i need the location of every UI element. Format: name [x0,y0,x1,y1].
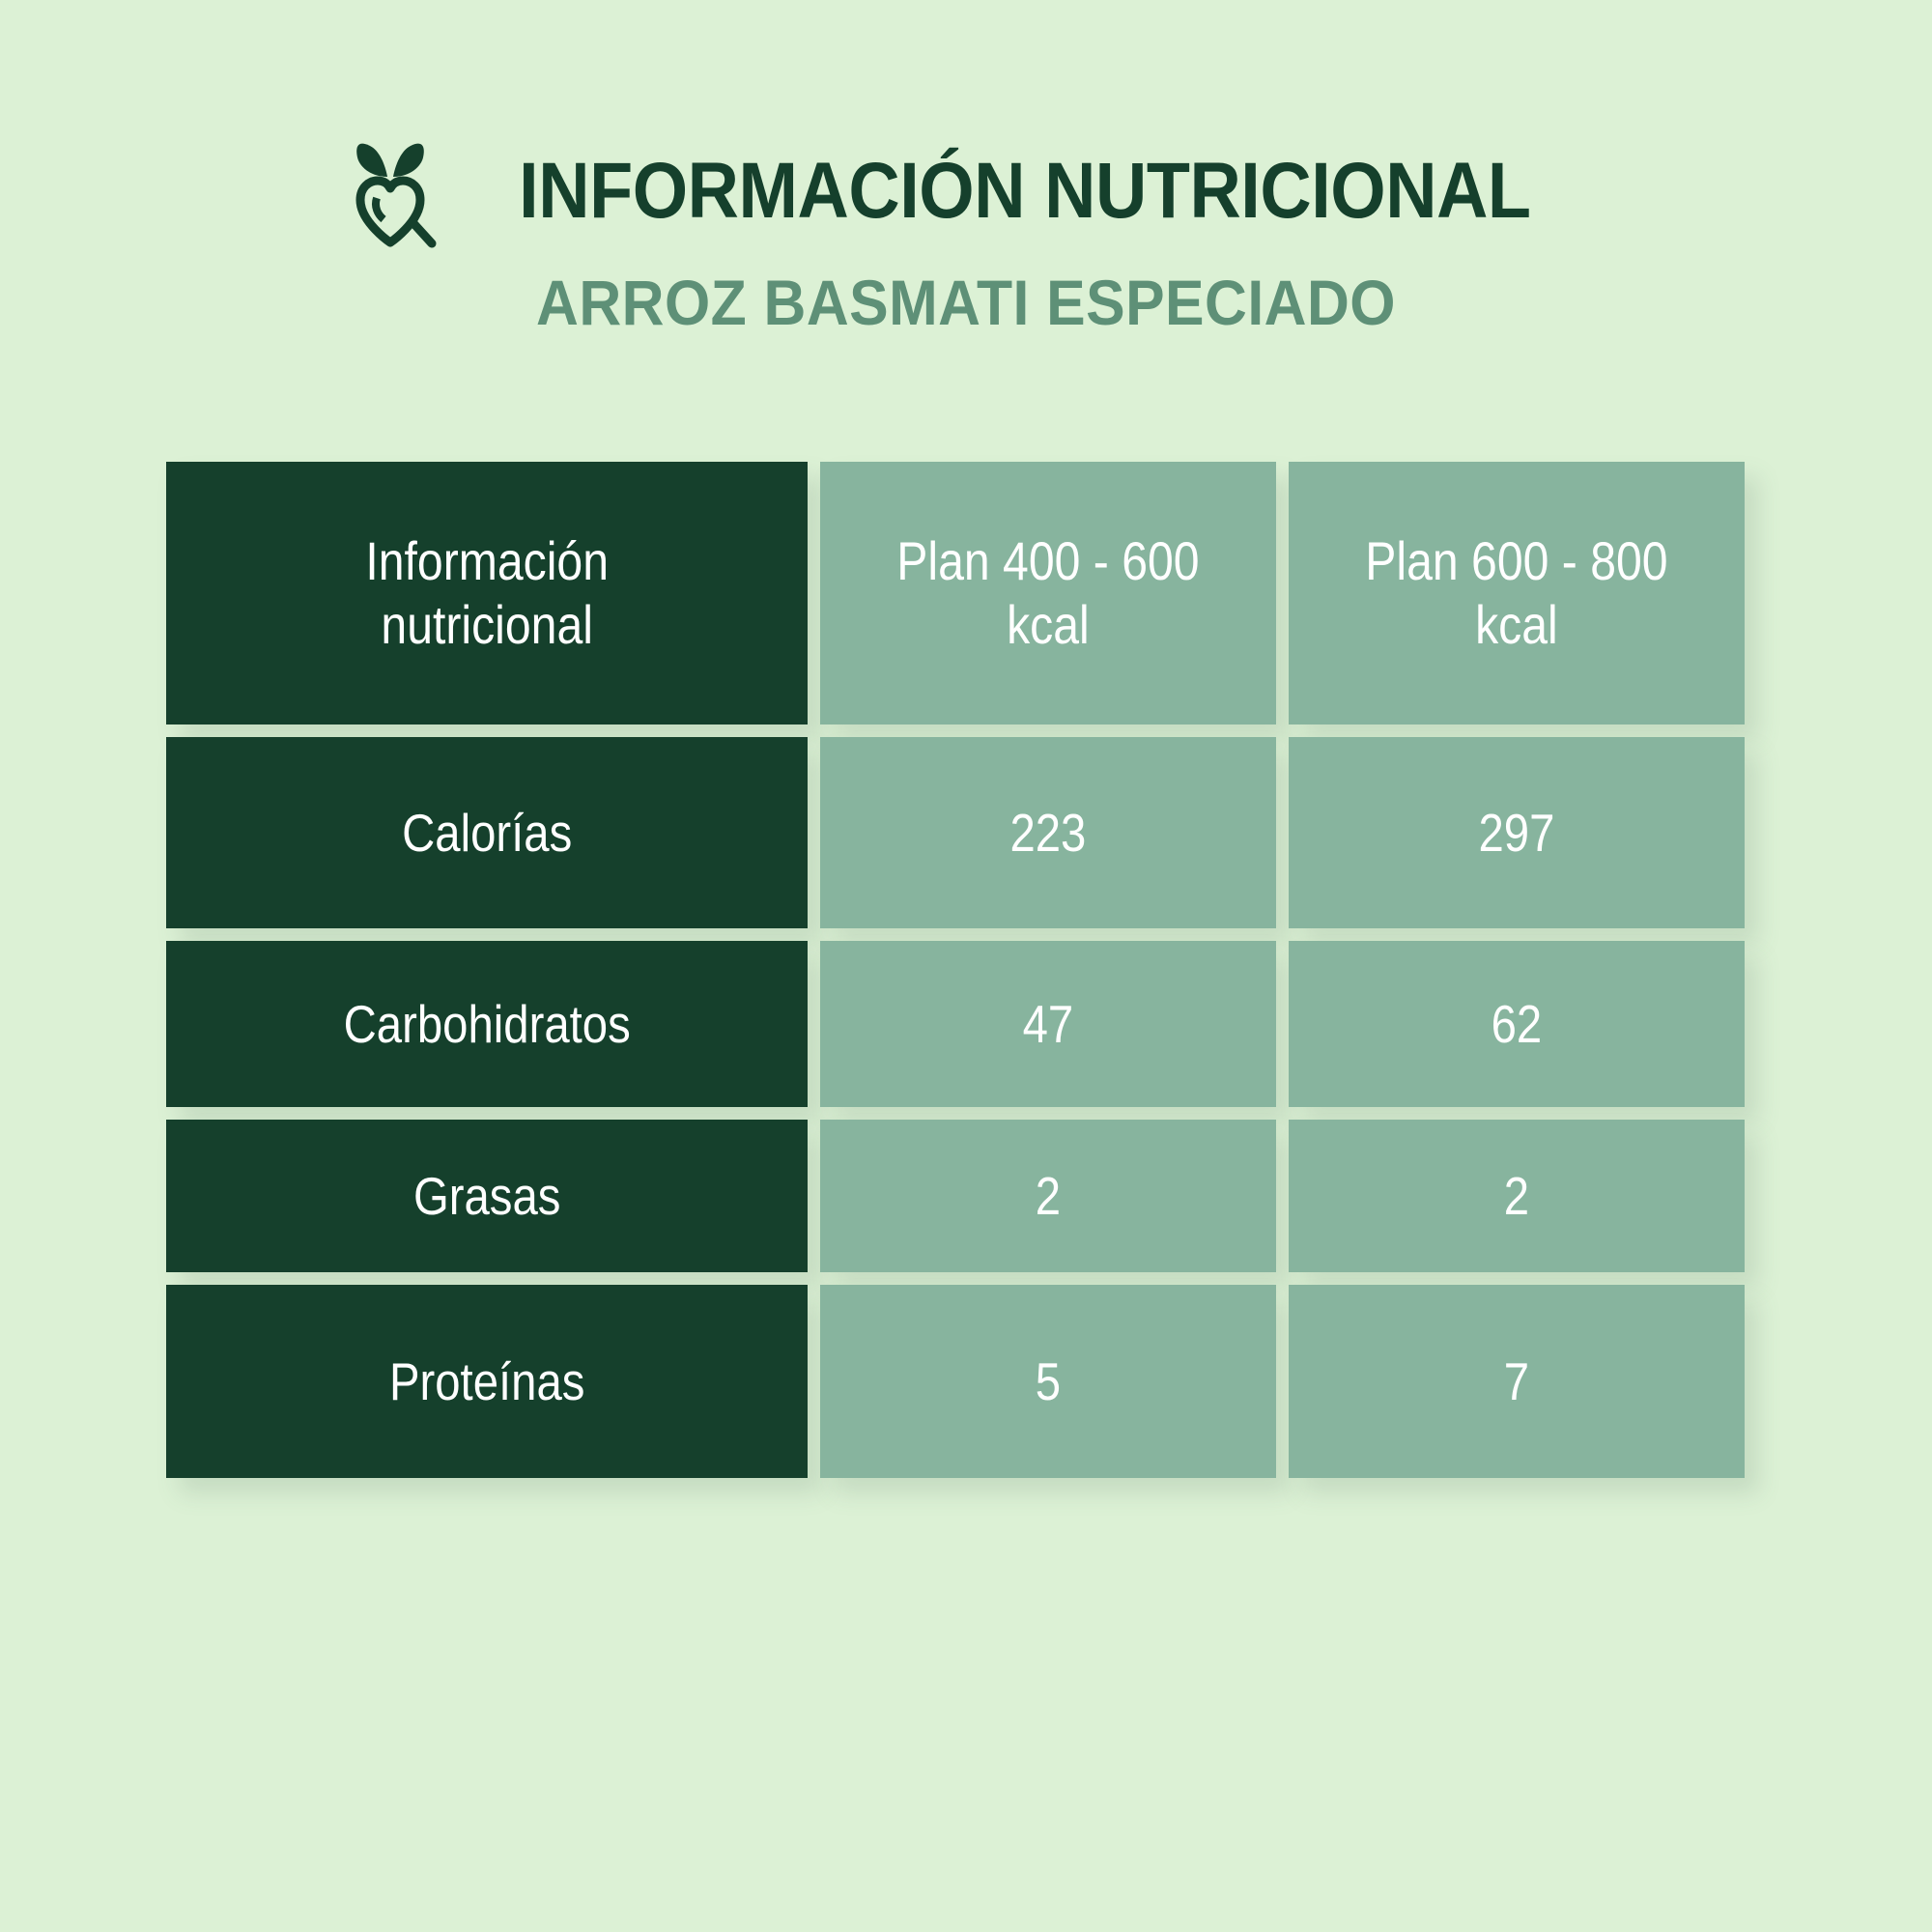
cell-grasas-plan-400-600: 2 [820,1120,1276,1272]
row-label-grasas: Grasas [166,1120,808,1272]
row-label-carbohidratos: Carbohidratos [166,941,808,1107]
page-header: Información nutricional Arroz basmati es… [0,133,1932,334]
cell-carbohidratos-plan-600-800: 62 [1289,941,1745,1107]
header-label-plan-600-800: Plan 600 - 800 kcal [1321,529,1713,656]
table-row: Proteínas 5 7 [166,1285,1745,1478]
cell-text-value: 297 [1321,802,1713,864]
header-cell-plan-600-800: Plan 600 - 800 kcal [1289,462,1745,724]
row-label-proteinas: Proteínas [166,1285,808,1478]
title-row: Información nutricional [0,133,1932,249]
cell-proteinas-plan-600-800: 7 [1289,1285,1745,1478]
cell-text-value: 5 [852,1350,1244,1412]
apple-magnifier-icon [345,137,438,249]
header-label-plan-400-600: Plan 400 - 600 kcal [852,529,1244,656]
table-row: Calorías 223 297 [166,737,1745,928]
cell-text-value: 47 [852,993,1244,1055]
page-title: Información nutricional [519,152,1530,231]
cell-calorias-plan-600-800: 297 [1289,737,1745,928]
row-label-calorias: Calorías [166,737,808,928]
header-label-info: Información nutricional [212,529,763,656]
table-row: Grasas 2 2 [166,1120,1745,1272]
cell-text-value: 62 [1321,993,1713,1055]
header-cell-plan-400-600: Plan 400 - 600 kcal [820,462,1276,724]
cell-text-label: Carbohidratos [212,993,763,1055]
cell-calorias-plan-400-600: 223 [820,737,1276,928]
cell-text-value: 7 [1321,1350,1713,1412]
cell-text-value: 223 [852,802,1244,864]
page-subtitle: Arroz basmati especiado [77,270,1855,334]
table-header-row: Información nutricional Plan 400 - 600 k… [166,462,1745,724]
nutrition-table-wrapper: Información nutricional Plan 400 - 600 k… [166,462,1770,1478]
cell-text-label: Calorías [212,802,763,864]
header-cell-info: Información nutricional [166,462,808,724]
cell-text-value: 2 [852,1165,1244,1227]
nutrition-info-page: Información nutricional Arroz basmati es… [0,0,1932,1932]
cell-text-value: 2 [1321,1165,1713,1227]
cell-text-label: Proteínas [212,1350,763,1412]
cell-text-label: Grasas [212,1165,763,1227]
cell-grasas-plan-600-800: 2 [1289,1120,1745,1272]
cell-proteinas-plan-400-600: 5 [820,1285,1276,1478]
table-row: Carbohidratos 47 62 [166,941,1745,1107]
nutrition-table: Información nutricional Plan 400 - 600 k… [154,449,1757,1491]
cell-carbohidratos-plan-400-600: 47 [820,941,1276,1107]
